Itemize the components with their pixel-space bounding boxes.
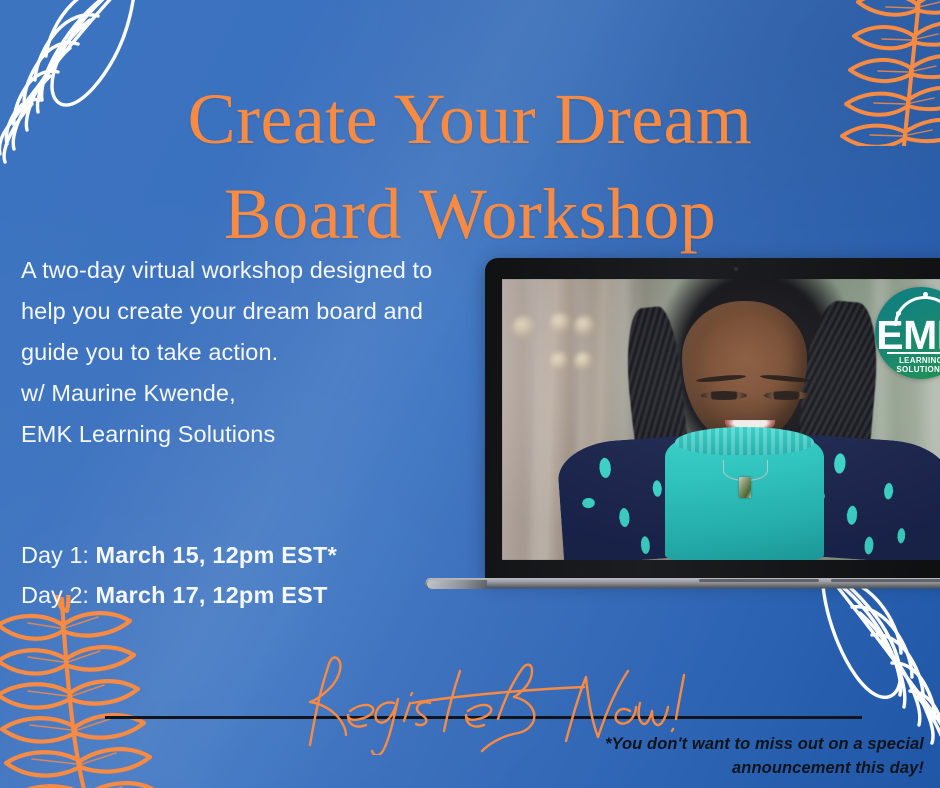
presenter-name: w/ Maurine Kwende, <box>21 373 453 414</box>
logo-wordmark: EMK <box>875 315 940 356</box>
laptop-base <box>427 578 940 593</box>
schedule-row: Day 2: March 17, 12pm EST <box>21 575 337 615</box>
laptop-screen: EMK LEARNING SOLUTIONS <box>502 279 940 560</box>
laptop-mockup: EMK LEARNING SOLUTIONS <box>427 258 940 608</box>
footnote-line-2: announcement this day! <box>504 756 924 780</box>
photo-color-grade <box>502 279 940 560</box>
presenter-portrait-photo: EMK LEARNING SOLUTIONS <box>502 279 940 560</box>
day-label: Day 1: <box>21 542 89 568</box>
logo-tagline: LEARNING SOLUTIONS <box>875 356 940 374</box>
laptop-lid: EMK LEARNING SOLUTIONS <box>485 258 940 580</box>
schedule-list: Day 1: March 15, 12pm EST* Day 2: March … <box>21 535 337 615</box>
day-datetime: March 15, 12pm EST* <box>95 542 337 568</box>
headline-line-1: Create Your Dream <box>188 79 753 159</box>
schedule-row: Day 1: March 15, 12pm EST* <box>21 535 337 575</box>
logo-divider <box>887 352 940 354</box>
footnote-line-1: *You don't want to miss out on a special <box>504 732 924 756</box>
description-paragraph: A two-day virtual workshop designed to h… <box>21 250 453 373</box>
day-datetime: March 17, 12pm EST <box>95 582 327 608</box>
promotional-poster: Create Your Dream Board Workshop A two-d… <box>0 0 940 788</box>
organization-name: EMK Learning Solutions <box>21 414 453 455</box>
footnote: *You don't want to miss out on a special… <box>504 732 924 780</box>
workshop-description: A two-day virtual workshop designed to h… <box>21 250 453 455</box>
day-label: Day 2: <box>21 582 89 608</box>
headline-line-2: Board Workshop <box>0 167 940 262</box>
webcam-icon <box>734 267 738 271</box>
page-title: Create Your Dream Board Workshop <box>0 72 940 262</box>
